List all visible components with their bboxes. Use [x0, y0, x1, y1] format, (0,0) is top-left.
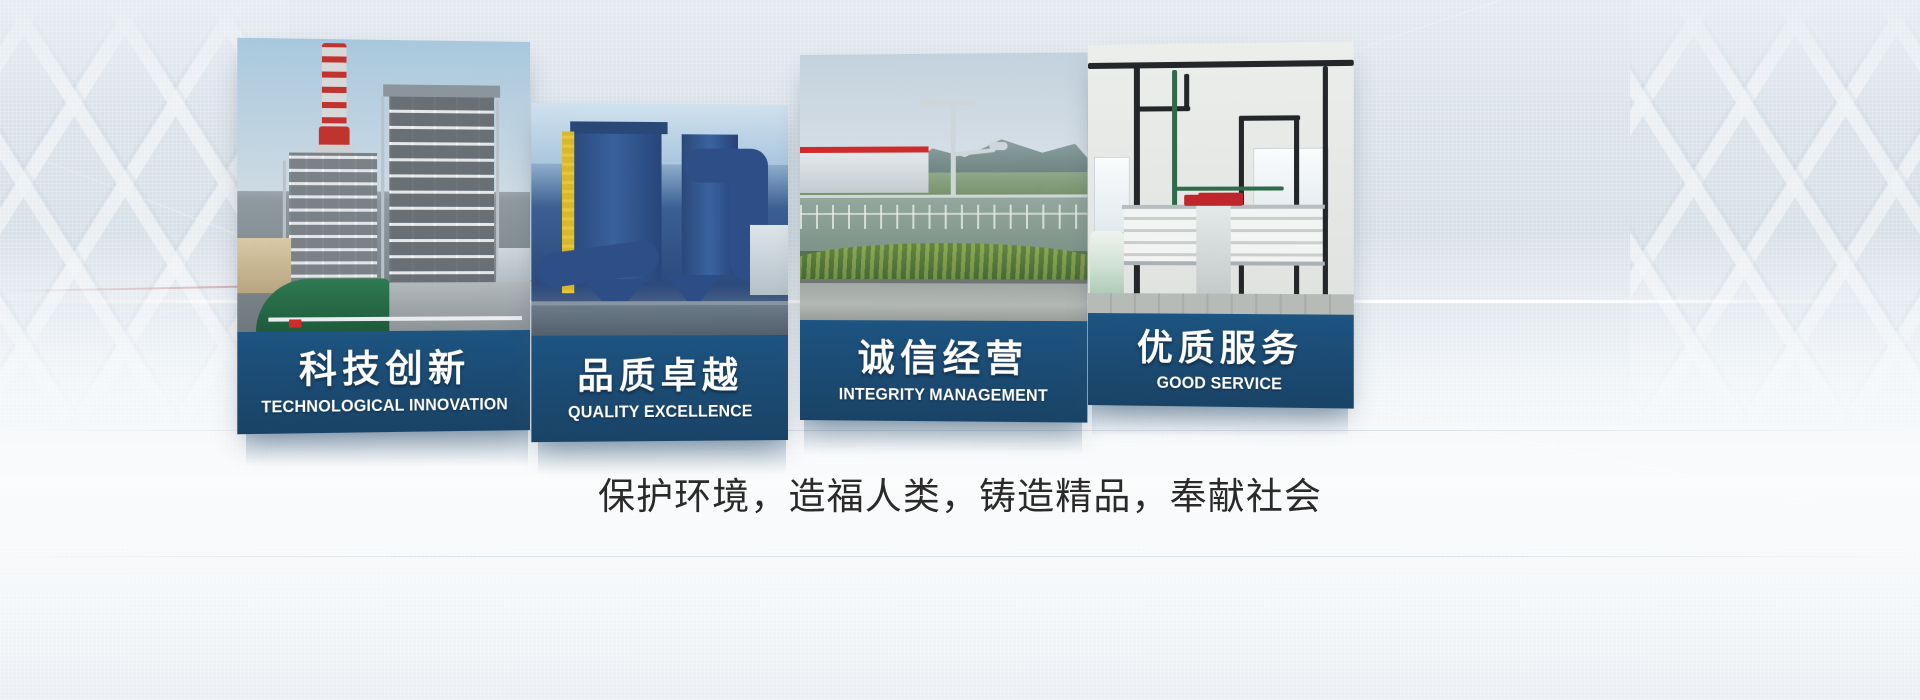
feature-card-list: 科技创新 TECHNOLOGICAL INNOVATION: [0, 0, 1920, 700]
card-title-en: QUALITY EXCELLENCE: [568, 402, 753, 420]
card-caption-quality-excellence: 品质卓越 QUALITY EXCELLENCE: [531, 335, 788, 442]
feature-card-good-service[interactable]: 优质服务 GOOD SERVICE: [1088, 41, 1354, 408]
chemical-tank: [1090, 231, 1124, 297]
card-reflection-1: [246, 430, 528, 466]
card-title-en: GOOD SERVICE: [1157, 373, 1283, 392]
card-photo-technological-innovation: [237, 38, 530, 332]
card-title-en: TECHNOLOGICAL INNOVATION: [261, 395, 508, 415]
card-title-cn: 品质卓越: [577, 357, 743, 394]
card-title-en: INTEGRITY MANAGEMENT: [839, 385, 1048, 404]
card-title-cn: 诚信经营: [858, 339, 1029, 377]
card-reflection-3: [804, 420, 1082, 454]
feature-card-quality-excellence[interactable]: 品质卓越 QUALITY EXCELLENCE: [531, 103, 788, 442]
card-photo-good-service: [1088, 41, 1354, 314]
card-photo-integrity-management: [800, 52, 1087, 321]
paved-ground: [800, 281, 1087, 321]
banner-tagline: 保护环境，造福人类，铸造精品，奉献社会: [0, 466, 1920, 520]
warning-sign: [1198, 193, 1243, 206]
card-caption-integrity-management: 诚信经营 INTEGRITY MANAGEMENT: [800, 320, 1087, 423]
card-caption-good-service: 优质服务 GOOD SERVICE: [1088, 313, 1354, 409]
feature-card-integrity-management[interactable]: 诚信经营 INTEGRITY MANAGEMENT: [800, 52, 1087, 422]
card-photo-quality-excellence: [531, 103, 788, 336]
feature-card-technological-innovation[interactable]: 科技创新 TECHNOLOGICAL INNOVATION: [237, 38, 530, 435]
card-reflection-4: [1092, 405, 1348, 437]
card-caption-technological-innovation: 科技创新 TECHNOLOGICAL INNOVATION: [237, 330, 530, 434]
card-title-cn: 科技创新: [299, 349, 470, 388]
hero-banner: 科技创新 TECHNOLOGICAL INNOVATION: [0, 0, 1920, 700]
card-title-cn: 优质服务: [1137, 329, 1304, 367]
